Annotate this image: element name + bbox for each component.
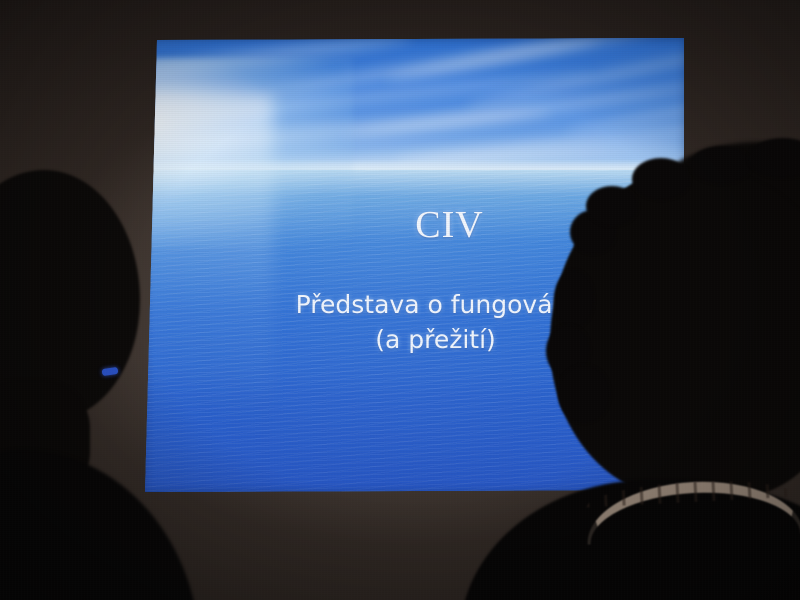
slide-subtitle-line-1: Představa o fungování [296, 290, 576, 319]
hair-curl-icon [632, 158, 690, 200]
shoulder-silhouette [0, 450, 200, 600]
hair-curl-icon [554, 270, 594, 328]
hair-curl-icon [690, 146, 752, 184]
silhouette-viewer-right [540, 150, 800, 600]
hair-curl-icon [586, 186, 638, 226]
photo-scene: CIV Představa o fungování (a přežití) [0, 0, 800, 600]
silhouette-viewer-left [0, 170, 240, 600]
hair-curl-icon [558, 365, 610, 423]
